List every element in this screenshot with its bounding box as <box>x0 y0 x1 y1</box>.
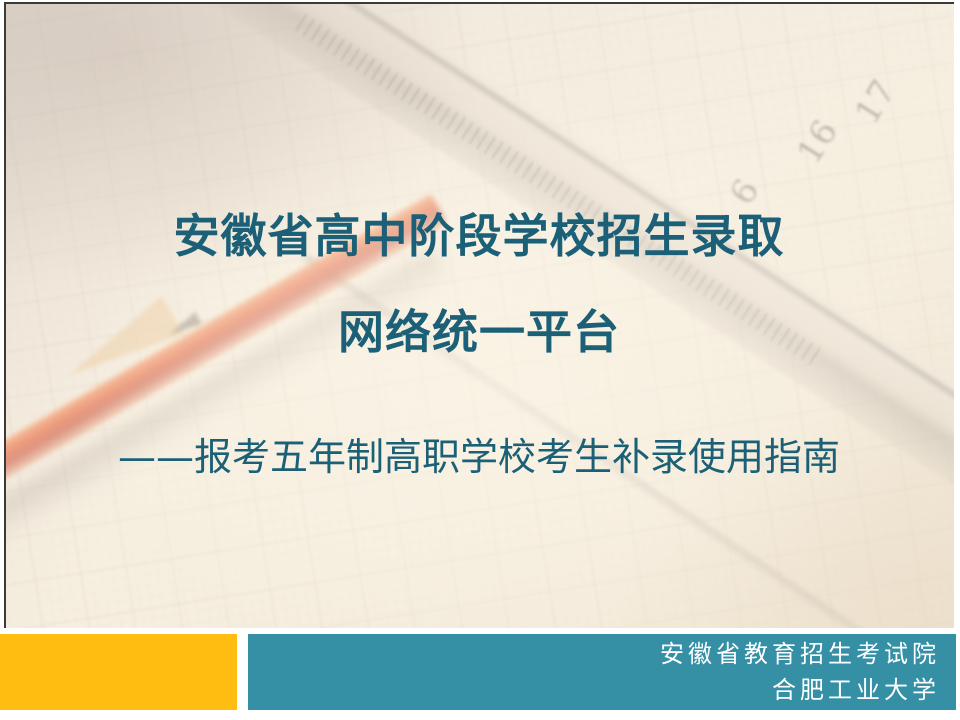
slide-subtitle: ——报考五年制高职学校考生补录使用指南 <box>4 426 954 481</box>
presentation-slide: 17 16 6 安徽省高中阶段学校招生录取 网络统一平台 ——报考五年制高职学校… <box>0 0 960 720</box>
slide-title-line-2: 网络统一平台 <box>4 296 954 362</box>
slide-title-line-1: 安徽省高中阶段学校招生录取 <box>4 200 954 266</box>
footer-organization: 安徽省教育招生考试院 合肥工业大学 <box>280 636 940 708</box>
footer-org-line-2: 合肥工业大学 <box>280 672 940 708</box>
title-block: 安徽省高中阶段学校招生录取 网络统一平台 ——报考五年制高职学校考生补录使用指南 <box>4 2 954 628</box>
footer-accent-bar-yellow <box>0 634 237 710</box>
footer-org-line-1: 安徽省教育招生考试院 <box>280 636 940 672</box>
